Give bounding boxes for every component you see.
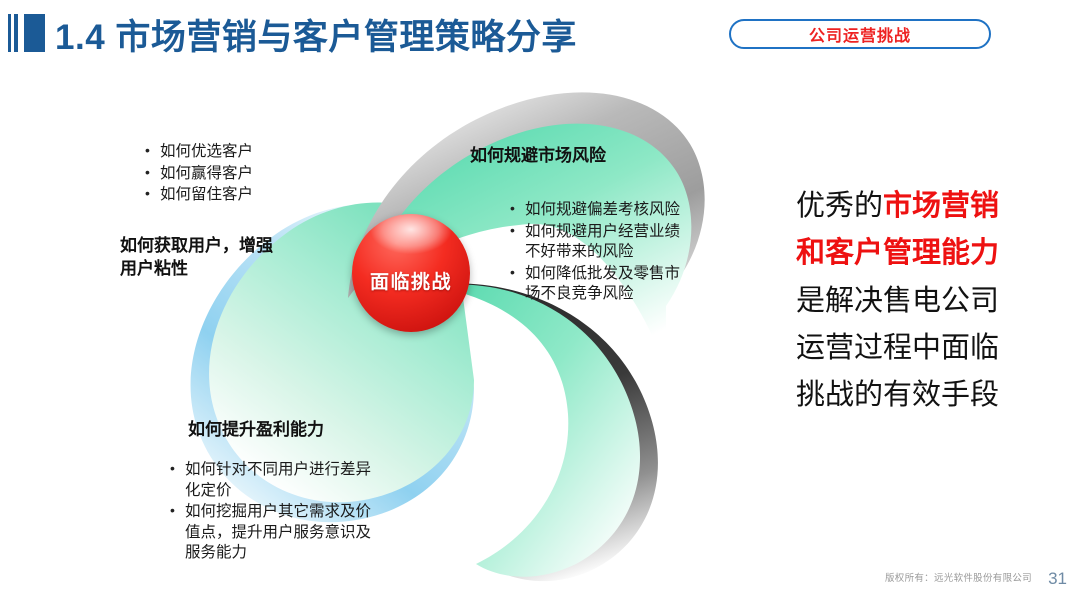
list-item: 如何赢得客户: [143, 164, 253, 185]
list-item: 如何规避用户经营业绩 不好带来的风险: [508, 222, 680, 263]
conclusion-text: 是解决售电公司: [796, 285, 999, 317]
acquire-heading: 如何获取用户，增强 用户粘性: [120, 234, 273, 281]
center-sphere: 面临挑战: [352, 214, 470, 332]
conclusion-text: 运营过程中面临: [796, 332, 999, 364]
conclusion-text: 挑战的有效手段: [796, 379, 999, 411]
swirl-lobe-right: [434, 283, 658, 581]
list-item: 如何规避偏差考核风险: [508, 200, 680, 221]
page-title: 1.4 市场营销与客户管理策略分享: [55, 9, 577, 60]
conclusion-line: 是解决售电公司: [796, 278, 1064, 325]
list-item: 如何降低批发及零售市 场不良竞争风险: [508, 264, 680, 305]
slide-canvas: 1.4 市场营销与客户管理策略分享 公司运营挑战: [0, 0, 1080, 592]
profit-bullet-list: 如何针对不同用户进行差异 化定价 如何挖掘用户其它需求及价 值点，提升用户服务意…: [168, 460, 371, 565]
list-item: 如何针对不同用户进行差异 化定价: [168, 460, 371, 501]
conclusion-line: 挑战的有效手段: [796, 372, 1064, 419]
risk-bullet-list: 如何规避偏差考核风险 如何规避用户经营业绩 不好带来的风险 如何降低批发及零售市…: [508, 200, 680, 306]
footer-copyright: 版权所有：远光软件股份有限公司: [885, 570, 1032, 584]
challenge-badge-label: 公司运营挑战: [809, 22, 911, 46]
list-item: 如何挖掘用户其它需求及价 值点，提升用户服务意识及 服务能力: [168, 502, 371, 564]
center-sphere-label: 面临挑战: [370, 267, 452, 294]
title-accent-bars: [8, 14, 45, 52]
accent-bar-thin-2: [14, 14, 18, 52]
acquire-bullet-list: 如何优选客户 如何赢得客户 如何留住客户: [143, 142, 253, 207]
conclusion-line: 优秀的市场营销: [796, 183, 1064, 230]
risk-heading: 如何规避市场风险: [470, 144, 606, 167]
list-item: 如何留住客户: [143, 185, 253, 206]
list-item: 如何优选客户: [143, 142, 253, 163]
conclusion-line: 和客户管理能力: [796, 230, 1064, 277]
conclusion-line: 运营过程中面临: [796, 325, 1064, 372]
slide-header: 1.4 市场营销与客户管理策略分享 公司运营挑战: [0, 0, 1080, 66]
accent-bar-thick: [24, 14, 45, 52]
profit-heading: 如何提升盈利能力: [188, 418, 324, 441]
conclusion-emphasis-text: 市场营销: [883, 190, 999, 222]
conclusion-panel: 优秀的市场营销和客户管理能力是解决售电公司运营过程中面临挑战的有效手段: [796, 183, 1064, 419]
conclusion-emphasis-text: 和客户管理能力: [796, 237, 999, 269]
challenge-badge[interactable]: 公司运营挑战: [729, 19, 991, 49]
conclusion-text: 优秀的: [796, 190, 883, 222]
footer-page-number: 31: [1048, 569, 1067, 589]
accent-bar-thin-1: [8, 14, 11, 52]
